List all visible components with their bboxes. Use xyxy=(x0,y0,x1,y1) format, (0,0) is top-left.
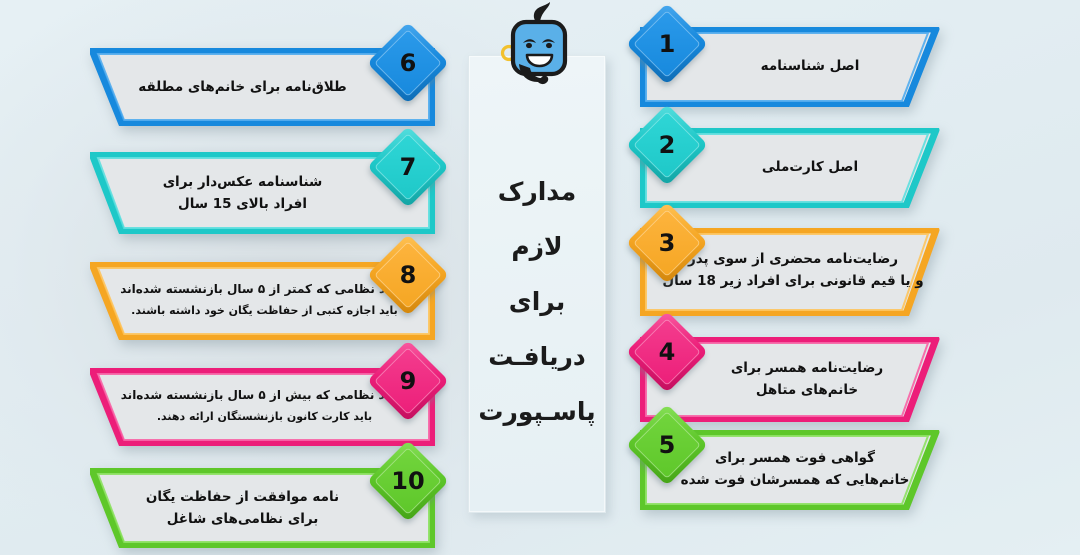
item-text: رضایت‌نامه همسر برای خانم‌های متاهل xyxy=(700,357,914,401)
step-number: 1 xyxy=(638,15,696,73)
list-item[interactable]: گواهی فوت همسر برای خانم‌هایی که همسرشان… xyxy=(640,430,940,510)
step-badge[interactable]: 10 xyxy=(367,440,449,522)
list-item[interactable]: اصل کارت‌ملی 2 xyxy=(640,128,940,208)
list-item[interactable]: افراد نظامی که کمتر از ۵ سال بازنشسته شد… xyxy=(90,262,435,340)
item-line: و یا قیم قانونی برای افراد زیر 18 سال xyxy=(660,270,926,292)
item-line: طلاق‌نامه برای خانم‌های مطلقه xyxy=(116,76,369,98)
item-line: نامه موافقت از حفاظت یگان xyxy=(116,486,369,508)
item-text: گواهی فوت همسر برای خانم‌هایی که همسرشان… xyxy=(664,447,926,491)
item-line: گواهی فوت همسر برای xyxy=(664,447,926,469)
item-line: باید اجازه کتبی از حفاظت یگان خود داشته … xyxy=(108,300,421,321)
page-title: مدارک لازم برای دریافـت پاسـپورت xyxy=(469,164,605,439)
list-item[interactable]: رضایت‌نامه همسر برای خانم‌های متاهل 4 xyxy=(640,337,940,422)
list-item[interactable]: رضایت‌نامه محضری از سوی پدر و یا قیم قان… xyxy=(640,228,940,316)
item-text: رضایت‌نامه محضری از سوی پدر و یا قیم قان… xyxy=(660,248,926,292)
step-number: 9 xyxy=(379,352,437,410)
step-badge[interactable]: 5 xyxy=(626,404,708,486)
item-text: طلاق‌نامه برای خانم‌های مطلقه xyxy=(116,76,369,98)
genie-mascot-icon xyxy=(500,0,578,88)
title-line-4: پاسـپورت xyxy=(469,384,605,439)
item-line: رضایت‌نامه محضری از سوی پدر xyxy=(660,248,926,270)
step-badge[interactable]: 3 xyxy=(626,202,708,284)
step-badge[interactable]: 8 xyxy=(367,234,449,316)
item-line: برای نظامی‌های شاغل xyxy=(116,508,369,530)
list-item[interactable]: طلاق‌نامه برای خانم‌های مطلقه 6 xyxy=(90,48,435,126)
item-line: رضایت‌نامه همسر برای xyxy=(700,357,914,379)
title-line-3: دریافـت xyxy=(469,329,605,384)
step-number: 4 xyxy=(638,323,696,381)
step-badge[interactable]: 2 xyxy=(626,104,708,186)
item-text: شناسنامه عکس‌دار برای افراد بالای 15 سال xyxy=(116,171,369,215)
item-line: باید کارت کانون بازنشستگان ارائه دهند. xyxy=(108,406,421,427)
item-line: اصل شناسنامه xyxy=(710,55,910,77)
step-number: 6 xyxy=(379,34,437,92)
title-line-2: برای xyxy=(469,274,605,329)
step-badge[interactable]: 9 xyxy=(367,340,449,422)
step-badge[interactable]: 7 xyxy=(367,126,449,208)
step-badge[interactable]: 1 xyxy=(626,3,708,85)
item-text: نامه موافقت از حفاظت یگان برای نظامی‌های… xyxy=(116,486,369,530)
list-item[interactable]: افراد نظامی که بیش از ۵ سال بازنشسته شده… xyxy=(90,368,435,446)
item-line: افراد بالای 15 سال xyxy=(116,193,369,215)
item-text: اصل کارت‌ملی xyxy=(710,156,910,178)
step-number: 5 xyxy=(638,416,696,474)
item-line: شناسنامه عکس‌دار برای xyxy=(116,171,369,193)
step-number: 7 xyxy=(379,138,437,196)
item-line: خانم‌های متاهل xyxy=(700,379,914,401)
item-line: اصل کارت‌ملی xyxy=(710,156,910,178)
item-text: افراد نظامی که کمتر از ۵ سال بازنشسته شد… xyxy=(108,279,421,321)
list-item[interactable]: اصل شناسنامه 1 xyxy=(640,27,940,107)
title-line-1: مدارک لازم xyxy=(469,164,605,274)
step-badge[interactable]: 4 xyxy=(626,311,708,393)
list-item[interactable]: نامه موافقت از حفاظت یگان برای نظامی‌های… xyxy=(90,468,435,548)
center-title-panel: مدارک لازم برای دریافـت پاسـپورت xyxy=(468,55,606,513)
step-number: 2 xyxy=(638,116,696,174)
step-number: 3 xyxy=(638,214,696,272)
item-text: اصل شناسنامه xyxy=(710,55,910,77)
step-badge[interactable]: 6 xyxy=(367,22,449,104)
step-number: 10 xyxy=(379,452,437,510)
step-number: 8 xyxy=(379,246,437,304)
item-line: خانم‌هایی که همسرشان فوت شده xyxy=(664,469,926,491)
item-text: افراد نظامی که بیش از ۵ سال بازنشسته شده… xyxy=(108,385,421,427)
list-item[interactable]: شناسنامه عکس‌دار برای افراد بالای 15 سال… xyxy=(90,152,435,234)
